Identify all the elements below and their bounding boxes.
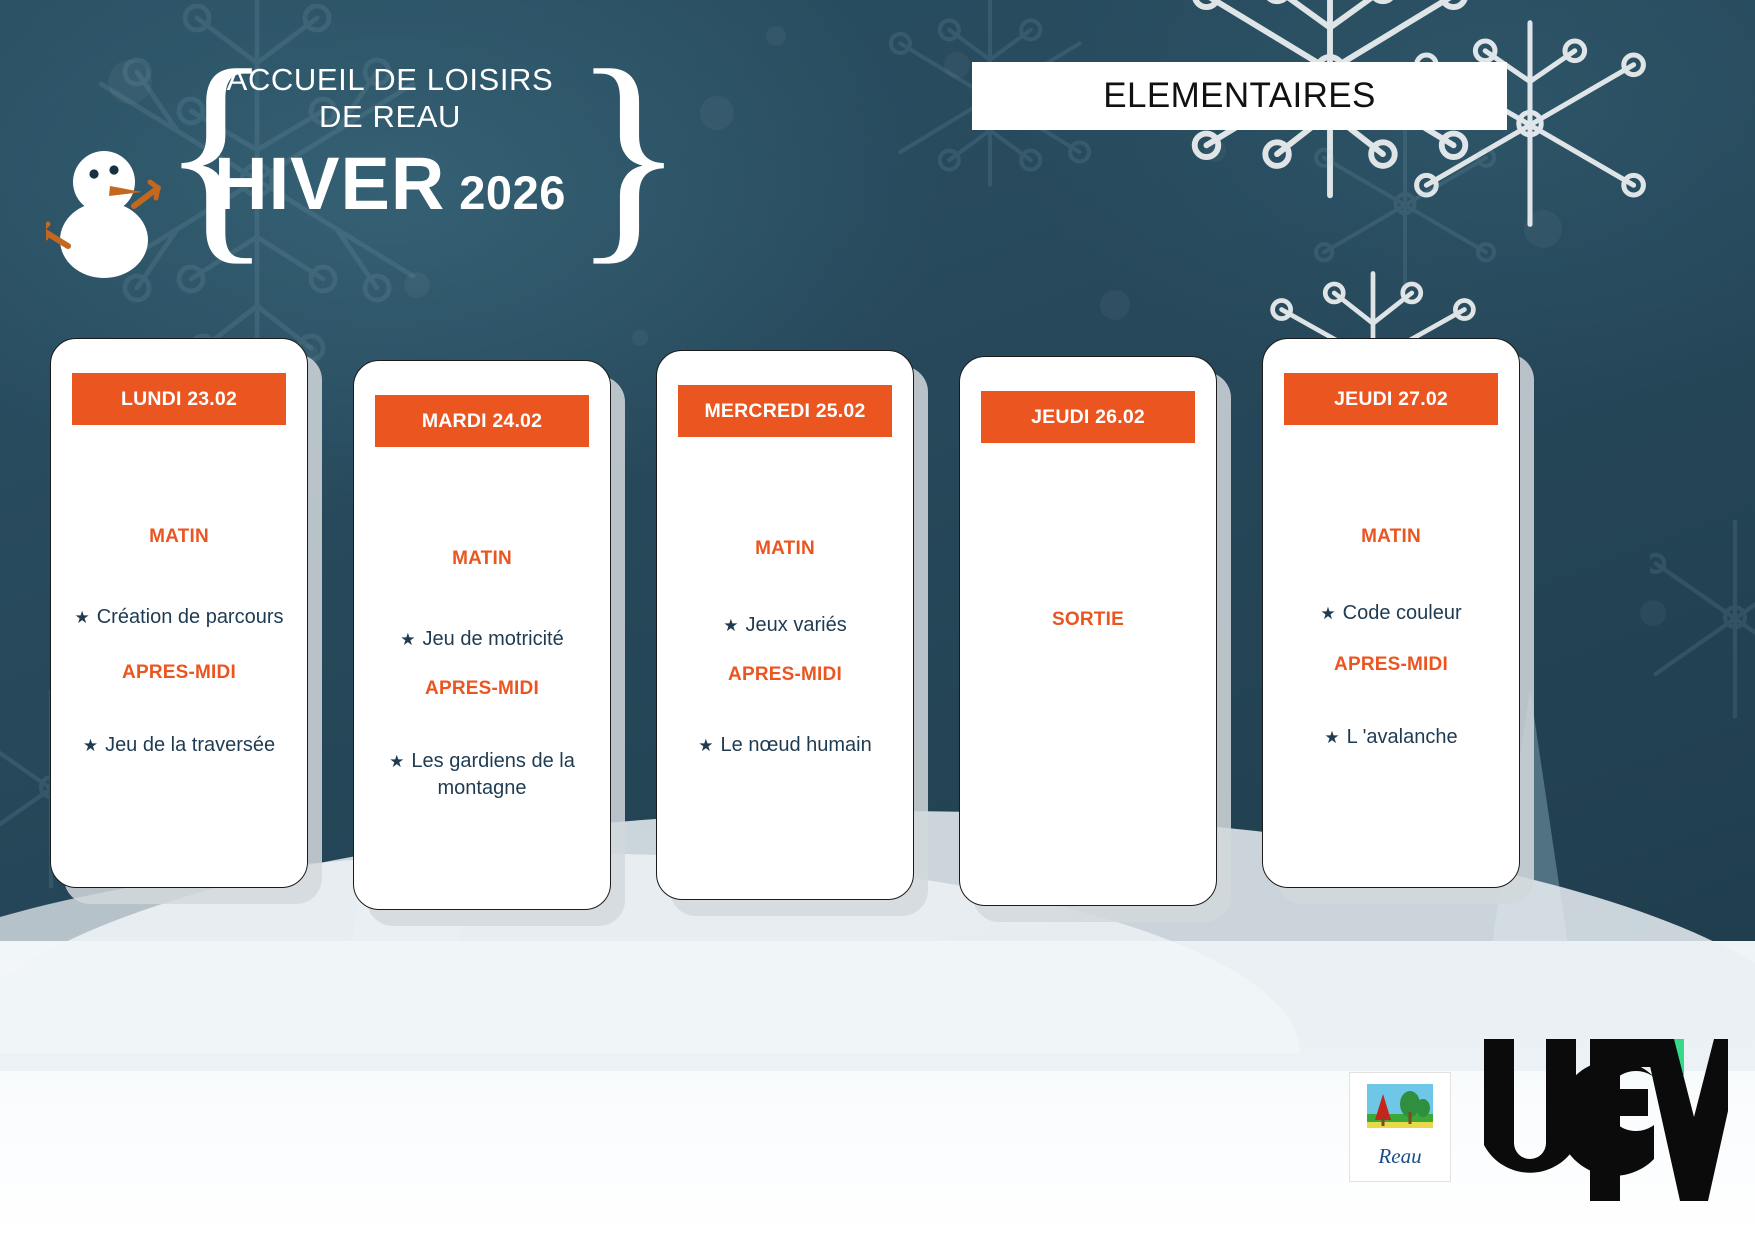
day-card-date-header: JEUDI 26.02	[981, 391, 1195, 443]
activity-item: ★L 'avalanche	[1273, 724, 1509, 750]
activity-label: Jeu de la traversée	[105, 734, 275, 756]
star-bullet-icon: ★	[1320, 604, 1335, 623]
day-card-body: MATIN ★Création de parcours APRES-MIDI ★…	[51, 431, 307, 877]
brace-right: }	[572, 36, 685, 272]
season-label: HIVER	[214, 142, 445, 225]
day-card-date-label: JEUDI 26.02	[1031, 406, 1145, 429]
slot-label: MATIN	[61, 526, 297, 548]
star-bullet-icon: ★	[389, 752, 404, 771]
slot-label: SORTIE	[970, 609, 1206, 631]
activity-item: ★Jeu de motricité	[364, 626, 600, 652]
reau-town-logo: Reau	[1349, 1072, 1451, 1182]
activity-item: ★Code couleur	[1273, 600, 1509, 626]
poster-root: { } ACCUEIL DE LOISIRS DE REAU HIVER2026…	[0, 0, 1755, 1241]
day-card-date-header: MARDI 24.02	[375, 395, 589, 447]
day-card-body: SORTIE	[960, 449, 1216, 895]
reau-logo-text: Reau	[1378, 1144, 1421, 1169]
snowflake-icon	[1310, 120, 1500, 290]
slot-label: APRES-MIDI	[61, 662, 297, 684]
day-card: MERCREDI 25.02 MATIN ★Jeux variés APRES-…	[656, 350, 914, 900]
activity-item: ★Jeu de la traversée	[61, 732, 297, 758]
star-bullet-icon: ★	[83, 736, 98, 755]
day-card-body: MATIN ★Jeu de motricité APRES-MIDI ★Les …	[354, 453, 610, 899]
activity-item: ★Le nœud humain	[667, 732, 903, 758]
day-card-date-header: JEUDI 27.02	[1284, 373, 1498, 425]
day-card-date-header: LUNDI 23.02	[72, 373, 286, 425]
star-bullet-icon: ★	[698, 736, 713, 755]
org-line-2: DE REAU	[196, 99, 584, 136]
title-block: ACCUEIL DE LOISIRS DE REAU HIVER2026	[196, 62, 584, 226]
ufcv-logo-icon	[1478, 1033, 1728, 1208]
star-bullet-icon: ★	[723, 616, 738, 635]
slot-label: MATIN	[364, 548, 600, 570]
activity-item: ★Jeux variés	[667, 612, 903, 638]
activity-label: Jeu de motricité	[423, 628, 564, 650]
activity-item: ★Les gardiens de la montagne	[364, 748, 600, 801]
slot-label: APRES-MIDI	[364, 678, 600, 700]
season-line: HIVER2026	[196, 141, 584, 226]
day-card-body: MATIN ★Code couleur APRES-MIDI ★L 'avala…	[1263, 431, 1519, 877]
activity-item: ★Création de parcours	[61, 604, 297, 630]
reau-town-crest-icon	[1363, 1080, 1437, 1142]
day-card-date-label: MERCREDI 25.02	[704, 400, 865, 423]
activity-label: L 'avalanche	[1347, 726, 1458, 748]
day-card-date-label: MARDI 24.02	[422, 410, 542, 433]
slot-label: MATIN	[667, 538, 903, 560]
day-card-date-label: LUNDI 23.02	[121, 388, 237, 411]
org-line-1: ACCUEIL DE LOISIRS	[196, 62, 584, 99]
day-cards-container: LUNDI 23.02 MATIN ★Création de parcours …	[0, 338, 1755, 908]
day-card: JEUDI 27.02 MATIN ★Code couleur APRES-MI…	[1262, 338, 1520, 888]
activity-label: Les gardiens de la montagne	[411, 750, 574, 798]
star-bullet-icon: ★	[74, 608, 89, 627]
year-label: 2026	[459, 166, 566, 219]
star-bullet-icon: ★	[400, 630, 415, 649]
day-card: JEUDI 26.02 SORTIE	[959, 356, 1217, 906]
snowman-icon	[46, 130, 176, 280]
slot-label: MATIN	[1273, 526, 1509, 548]
day-card-body: MATIN ★Jeux variés APRES-MIDI ★Le nœud h…	[657, 443, 913, 889]
activity-label: Jeux variés	[746, 614, 847, 636]
day-card-date-label: JEUDI 27.02	[1334, 388, 1448, 411]
slot-label: APRES-MIDI	[1273, 654, 1509, 676]
audience-badge-label: ELEMENTAIRES	[1103, 76, 1376, 116]
audience-badge: ELEMENTAIRES	[972, 62, 1507, 130]
activity-label: Création de parcours	[97, 606, 284, 628]
slot-label: APRES-MIDI	[667, 664, 903, 686]
activity-label: Code couleur	[1343, 602, 1462, 624]
day-card: MARDI 24.02 MATIN ★Jeu de motricité APRE…	[353, 360, 611, 910]
star-bullet-icon: ★	[1324, 728, 1339, 747]
activity-label: Le nœud humain	[721, 734, 872, 756]
day-card: LUNDI 23.02 MATIN ★Création de parcours …	[50, 338, 308, 888]
day-card-date-header: MERCREDI 25.02	[678, 385, 892, 437]
